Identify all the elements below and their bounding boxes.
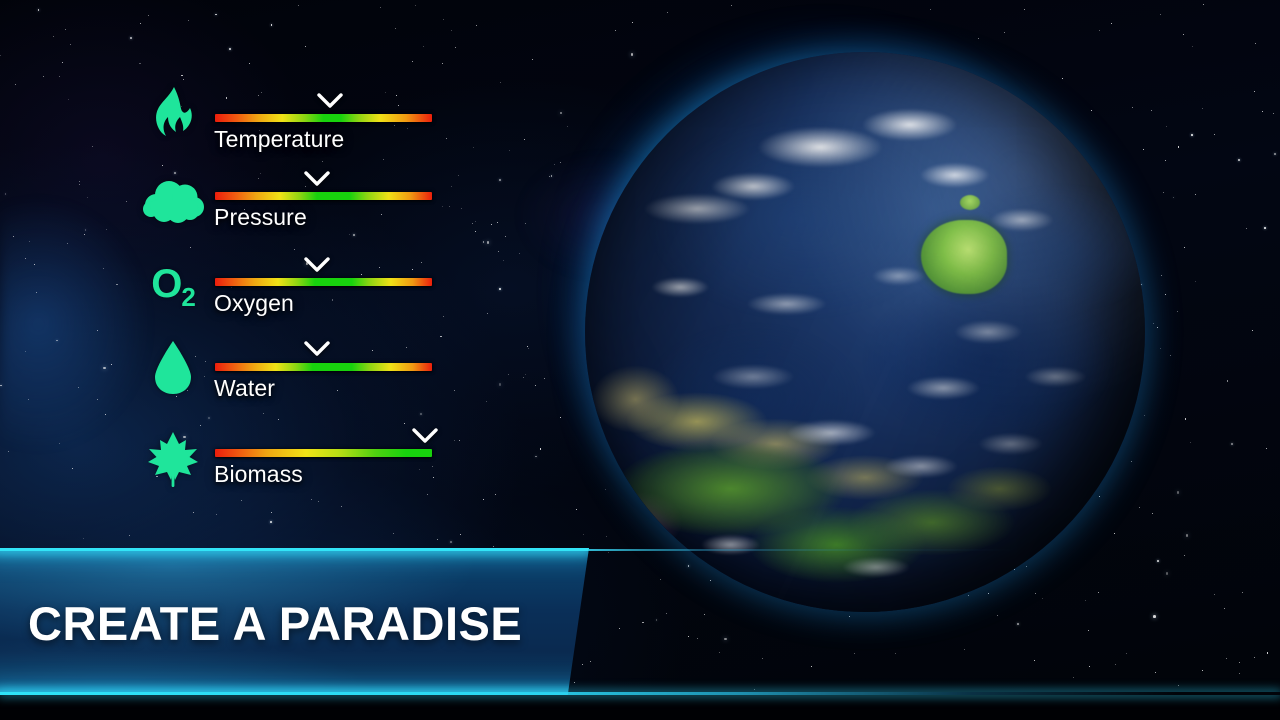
slider-bar-oxygen[interactable]	[215, 278, 432, 286]
flame-icon	[140, 82, 206, 144]
planet-sphere	[585, 52, 1145, 612]
banner-title: CREATE A PARADISE	[28, 596, 522, 651]
slider-marker-temperature[interactable]	[317, 93, 343, 110]
banner-top-light-streak	[585, 549, 1280, 551]
slider-label-oxygen: Oxygen	[214, 290, 294, 317]
leaf-icon	[140, 428, 206, 490]
promo-screen: Temperature	[0, 0, 1280, 720]
slider-marker-biomass[interactable]	[412, 428, 438, 445]
slider-row-biomass[interactable]: Biomass	[0, 0, 470, 84]
planet	[545, 12, 1105, 572]
banner-top-edge	[0, 548, 589, 551]
slider-bar-pressure[interactable]	[215, 192, 432, 200]
cloud-icon	[140, 170, 206, 232]
slider-label-temperature: Temperature	[214, 126, 344, 153]
slider-bar-water[interactable]	[215, 363, 432, 371]
o2-icon-text: O2	[151, 264, 195, 310]
slider-label-pressure: Pressure	[214, 204, 307, 231]
planet-terminator-shadow	[585, 52, 1145, 612]
slider-marker-oxygen[interactable]	[304, 257, 330, 274]
o2-icon: O2	[140, 256, 206, 318]
bottom-dark-strip	[0, 695, 1280, 720]
slider-bar-temperature[interactable]	[215, 114, 432, 122]
slider-label-water: Water	[214, 375, 275, 402]
slider-bar-biomass[interactable]	[215, 449, 432, 457]
slider-marker-pressure[interactable]	[304, 171, 330, 188]
slider-label-biomass: Biomass	[214, 461, 303, 488]
water-drop-icon	[140, 336, 206, 398]
bottom-cyan-line	[0, 692, 1280, 695]
slider-marker-water[interactable]	[304, 341, 330, 358]
